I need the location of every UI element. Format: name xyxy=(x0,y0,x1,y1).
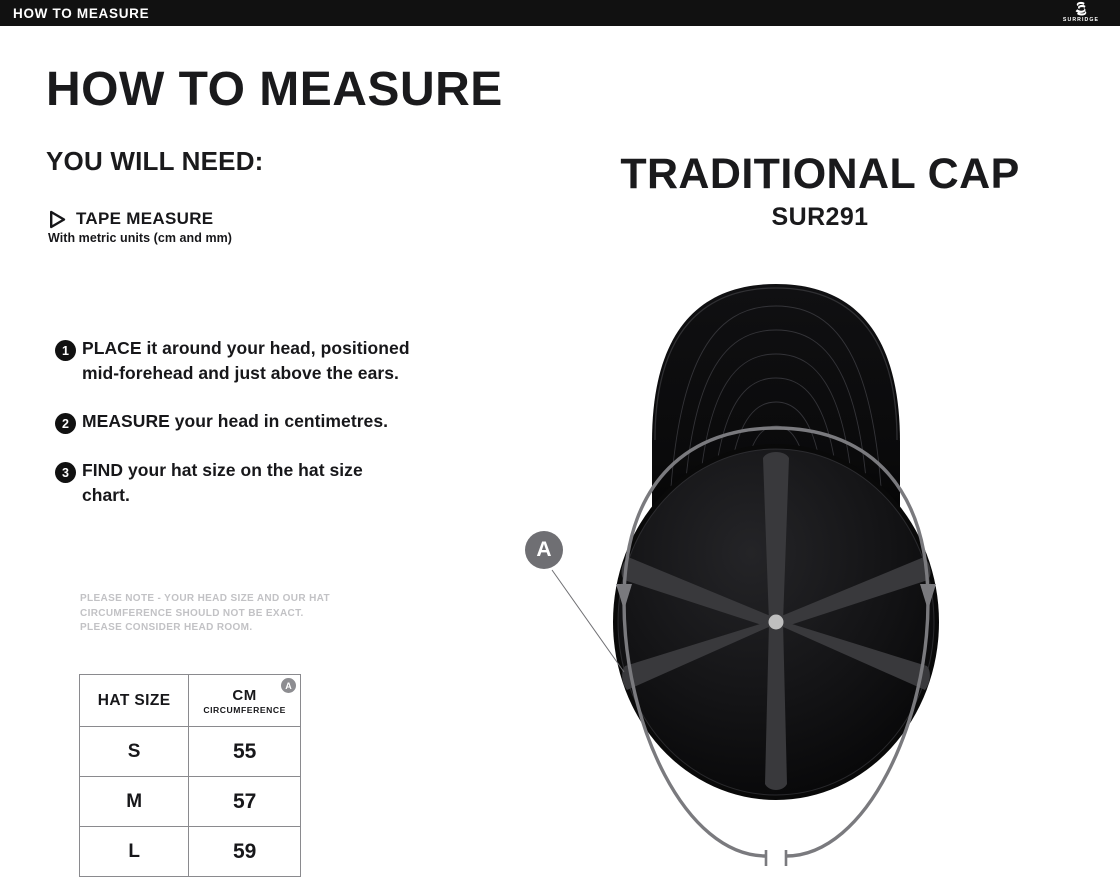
cell-cm: 57 xyxy=(189,777,301,827)
step-number-badge: 3 xyxy=(55,462,76,483)
please-note-text: PLEASE NOTE - YOUR HEAD SIZE AND OUR HAT… xyxy=(80,592,330,636)
requirements-block: TAPE MEASURE With metric units (cm and m… xyxy=(48,209,232,245)
table-header-row: HAT SIZE CM CIRCUMFERENCE A xyxy=(80,675,301,727)
product-name: TRADITIONAL CAP xyxy=(560,150,1080,199)
brand-name: SURRIDGE xyxy=(1063,17,1099,23)
cell-cm: 55 xyxy=(189,727,301,777)
brand-logo: SURRIDGE xyxy=(1050,1,1112,25)
page-title: HOW TO MEASURE xyxy=(46,62,503,117)
measurement-gap-ticks xyxy=(766,850,786,866)
requirement-title: TAPE MEASURE xyxy=(76,209,213,229)
measurement-badge-a-icon: A xyxy=(281,678,296,693)
column-header-hat-size-label: HAT SIZE xyxy=(98,692,171,709)
note-line: PLEASE CONSIDER HEAD ROOM. xyxy=(80,621,330,636)
column-header-hat-size: HAT SIZE xyxy=(80,675,189,727)
top-bar-title: HOW TO MEASURE xyxy=(13,6,149,21)
step-item: 3 FIND your hat size on the hat size cha… xyxy=(55,458,415,507)
callout-badge-a: A xyxy=(525,531,563,569)
triangle-bullet-icon xyxy=(48,210,67,229)
note-line: PLEASE NOTE - YOUR HEAD SIZE AND OUR HAT xyxy=(80,592,330,607)
table-row: L 59 xyxy=(80,827,301,877)
column-header-cm: CM CIRCUMFERENCE A xyxy=(189,675,301,727)
hat-size-table: HAT SIZE CM CIRCUMFERENCE A S 55 M 57 L … xyxy=(79,674,301,877)
step-item: 1 PLACE it around your head, positioned … xyxy=(55,336,415,385)
table-row: S 55 xyxy=(80,727,301,777)
product-code: SUR291 xyxy=(560,203,1080,232)
column-header-circumference-label: CIRCUMFERENCE xyxy=(189,705,300,715)
cell-hat-size: L xyxy=(80,827,189,877)
requirement-item: TAPE MEASURE xyxy=(48,209,232,229)
steps-list: 1 PLACE it around your head, positioned … xyxy=(55,336,415,531)
note-line: CIRCUMFERENCE SHOULD NOT BE EXACT. xyxy=(80,607,330,622)
cap-crown xyxy=(613,444,939,800)
top-bar: HOW TO MEASURE SURRIDGE xyxy=(0,0,1120,26)
cap-top-view-diagram xyxy=(505,272,1045,883)
step-number-badge: 1 xyxy=(55,340,76,361)
surridge-s-logo-icon xyxy=(1072,1,1090,17)
requirement-subtitle: With metric units (cm and mm) xyxy=(48,231,232,245)
cell-hat-size: M xyxy=(80,777,189,827)
step-item: 2 MEASURE your head in centimetres. xyxy=(55,409,415,434)
you-will-need-heading: YOU WILL NEED: xyxy=(46,146,264,177)
cell-cm: 59 xyxy=(189,827,301,877)
table-row: M 57 xyxy=(80,777,301,827)
step-text: FIND your hat size on the hat size chart… xyxy=(82,458,415,507)
step-text: MEASURE your head in centimetres. xyxy=(82,409,388,434)
cell-hat-size: S xyxy=(80,727,189,777)
page-root: HOW TO MEASURE SURRIDGE HOW TO MEASURE Y… xyxy=(0,0,1120,883)
step-number-badge: 2 xyxy=(55,413,76,434)
cap-centre-button-icon xyxy=(769,615,784,630)
step-text: PLACE it around your head, positioned mi… xyxy=(82,336,415,385)
